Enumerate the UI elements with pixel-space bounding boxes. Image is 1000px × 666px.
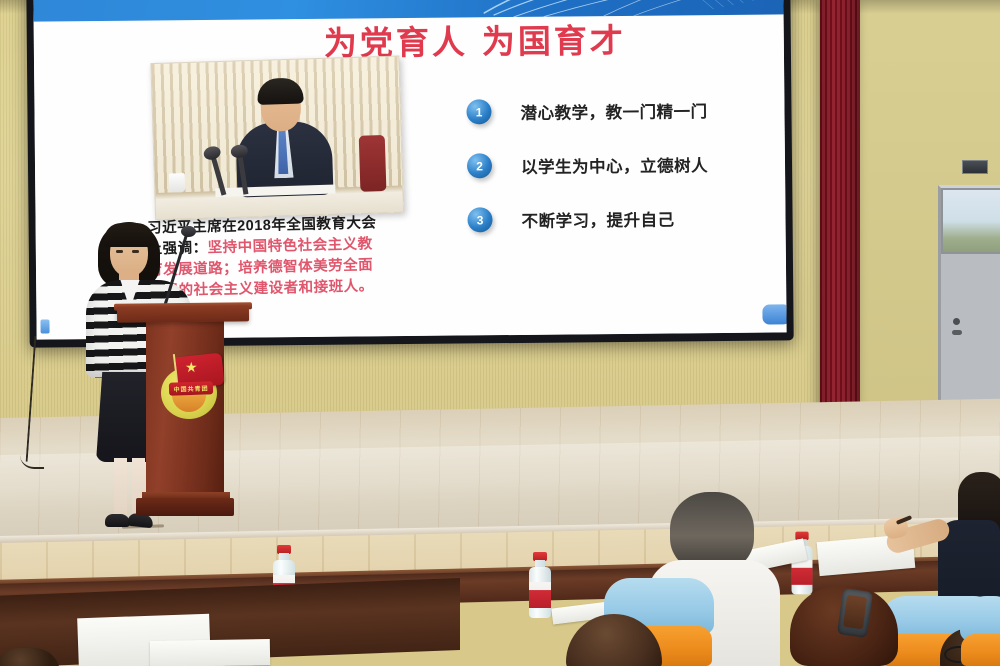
microphone-icon bbox=[181, 226, 196, 237]
bullet-item-3: 3 不断学习，提升自己 bbox=[467, 205, 708, 232]
door-handle-icon[interactable] bbox=[953, 318, 960, 325]
bullet-item-1: 1 潜心教学，教一门精一门 bbox=[466, 97, 707, 124]
door-lock-icon[interactable] bbox=[952, 330, 962, 335]
bullet-text: 不断学习，提升自己 bbox=[521, 206, 674, 231]
slide-decoration-left bbox=[40, 319, 49, 333]
photo-cup bbox=[169, 173, 186, 192]
bullet-text: 以学生为中心，立德树人 bbox=[521, 152, 708, 178]
bullet-number-badge: 3 bbox=[467, 207, 492, 232]
slide-title-part2: 为国育才 bbox=[482, 22, 626, 60]
caption-line-2-red: 坚持中国特色社会主义教 bbox=[207, 236, 372, 256]
water-bottle[interactable] bbox=[528, 552, 552, 618]
door-window bbox=[941, 188, 1000, 254]
slide-decoration-corner bbox=[762, 304, 786, 324]
bullet-text: 潜心教学，教一门精一门 bbox=[520, 98, 707, 124]
presenter-eye bbox=[116, 250, 123, 253]
bottle-label bbox=[529, 582, 551, 608]
bullet-item-2: 2 以学生为中心，立德树人 bbox=[467, 151, 708, 178]
lecture-hall-scene: 育人的根本在于立德 为党育人为国育才 bbox=[0, 0, 1000, 666]
paper-sheet[interactable] bbox=[150, 639, 270, 666]
wall-sign bbox=[962, 160, 988, 174]
slide-photo bbox=[150, 56, 404, 221]
youth-league-emblem-icon: ★ 中国共青团 bbox=[158, 355, 224, 421]
presenter-eye bbox=[132, 250, 139, 253]
bullet-number-badge: 2 bbox=[467, 153, 492, 178]
seat-cushion bbox=[961, 634, 1000, 666]
presenter-hair-front bbox=[104, 223, 154, 247]
photo-chair bbox=[359, 135, 387, 192]
presenter-shoe bbox=[105, 514, 130, 527]
bullet-number-badge: 1 bbox=[466, 99, 491, 124]
auditorium-seat[interactable] bbox=[960, 596, 1000, 666]
podium-top bbox=[117, 305, 249, 322]
presenter-leg bbox=[114, 458, 127, 520]
slide-bullet-list: 1 潜心教学，教一门精一门 2 以学生为中心，立德树人 3 不断学习，提升自己 bbox=[466, 97, 709, 261]
bottle-label bbox=[792, 560, 813, 585]
podium-base bbox=[136, 498, 234, 516]
star-icon: ★ bbox=[185, 360, 198, 374]
emblem-ribbon-text: 中国共青团 bbox=[169, 381, 213, 396]
stage-curtain bbox=[820, 0, 860, 420]
